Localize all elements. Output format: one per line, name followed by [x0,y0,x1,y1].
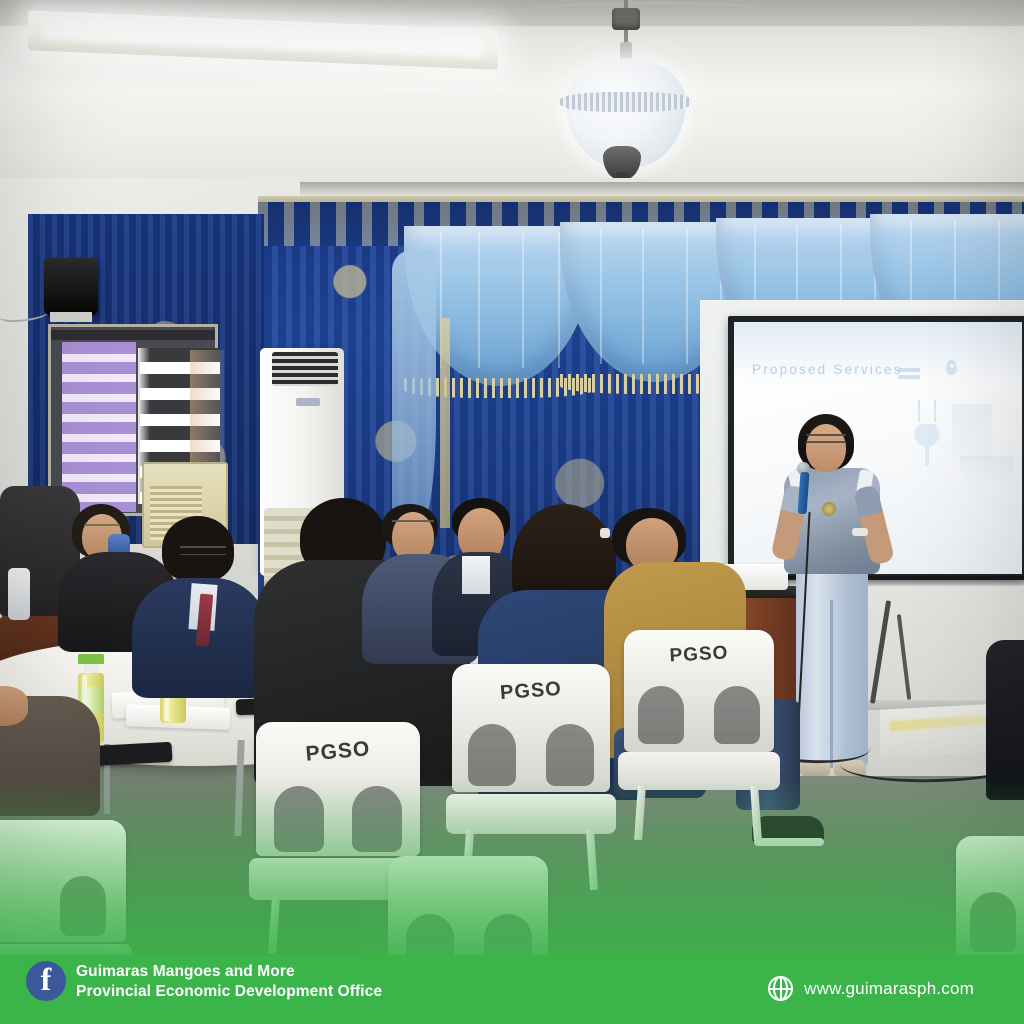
water-bottle [8,568,30,620]
tower-icon [918,400,936,422]
office-name: Provincial Economic Development Office [76,982,382,1002]
audience-10-body [986,640,1024,800]
chair-cutout-left [970,892,1016,952]
location-pin-icon [946,360,957,375]
curtain-tassel-strip [440,318,450,528]
window-blind-purple [62,342,136,512]
audience-8-sneaker-sole [754,838,824,846]
presenter-wristwatch [852,528,868,536]
audience-4-eyeglasses [392,520,434,528]
event-photo: Proposed Services [0,0,1024,1024]
tree-icon [914,424,940,466]
presenter-head [806,424,846,472]
chair-cutout-right [352,786,402,852]
audience-2-eyeglasses [180,546,226,555]
facebook-icon[interactable]: f [26,961,66,1001]
presenter-eyeglasses [806,434,846,443]
monobloc-chair-2: PGSO [452,664,610,864]
globe-icon [768,976,793,1001]
chair-cutout-right [546,724,594,786]
blind-headrail [51,330,215,340]
chair-cutout-right [60,876,106,936]
audience-5-shirt [462,556,490,594]
chair-cutout-left [468,724,516,786]
building-icon [952,404,992,462]
audience-1-eyeglasses [84,524,120,531]
chair-seat [618,752,780,790]
website-credit[interactable]: www.guimarasph.com [768,976,974,1001]
facebook-page-credit: Guimaras Mangoes and More Provincial Eco… [76,962,382,1003]
facebook-f-glyph: f [41,963,52,995]
website-url: www.guimarasph.com [804,979,974,999]
facebook-page-name: Guimaras Mangoes and More [76,962,382,982]
ac-display-panel [296,398,320,406]
monobloc-chair-3: PGSO [624,630,774,820]
card-stack-icon [898,368,920,382]
curtain-sheer-panel [392,250,436,530]
slide-title: Proposed Services [752,362,952,377]
speaker-bracket [50,312,92,322]
chair-seat [446,794,617,834]
wall-speaker [44,258,98,316]
chandelier-crystal-band [560,92,692,112]
chair-cutout-left [638,686,684,744]
presenter-logo-patch [822,502,836,516]
chair-cutout-left [274,786,324,852]
chair-cutout-right [714,686,760,744]
ac-grille [272,352,338,386]
chandelier-canopy [612,8,640,30]
boat-icon [960,456,1014,482]
audience-6-hair-clip [600,528,610,538]
